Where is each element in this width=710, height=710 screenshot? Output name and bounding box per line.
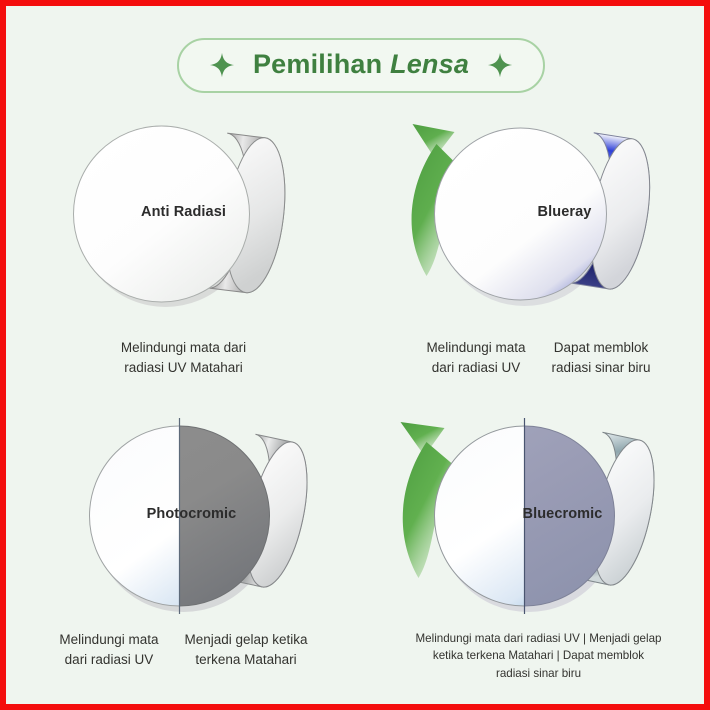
lens-grid: Anti Radiasi Melindungi mata dari radias… (6, 106, 710, 706)
lens-card-anti-radiasi[interactable]: Anti Radiasi Melindungi mata dari radias… (6, 106, 361, 406)
captions-photocromic: Melindungi mata dari radiasi UV Menjadi … (6, 630, 361, 669)
caption-item: Melindungi mata dari radiasi UV (59, 630, 158, 669)
lens-card-blueray[interactable]: Blueray Melindungi mata dari radiasi UV … (361, 106, 710, 406)
page-title: Pemilihan Lensa (253, 49, 469, 80)
lens-illustration-bluecromic: Bluecromic (361, 406, 710, 628)
header: Pemilihan Lensa (6, 38, 710, 93)
poster-canvas: Pemilihan Lensa (0, 0, 710, 710)
caption-item: Melindungi mata dari radiasi UV | Menjad… (416, 630, 662, 682)
captions-bluecromic: Melindungi mata dari radiasi UV | Menjad… (361, 630, 710, 682)
page-title-italic: Lensa (390, 49, 469, 79)
caption-item: Menjadi gelap ketika terkena Matahari (184, 630, 307, 669)
lens-illustration-photocromic: Photocromic (6, 406, 361, 628)
lens-card-bluecromic[interactable]: Bluecromic Melindungi mata dari radiasi … (361, 406, 710, 706)
title-pill: Pemilihan Lensa (177, 38, 545, 93)
sparkle-icon-left (209, 52, 235, 78)
lens-illustration-anti-radiasi: Anti Radiasi (6, 106, 361, 328)
page-title-main: Pemilihan (253, 49, 390, 79)
lens-card-photocromic[interactable]: Photocromic Melindungi mata dari radiasi… (6, 406, 361, 706)
lens-illustration-blueray: Blueray (361, 106, 710, 328)
caption-item: Melindungi mata dari radiasi UV (426, 338, 525, 377)
caption-item: Dapat memblok radiasi sinar biru (552, 338, 651, 377)
captions-anti-radiasi: Melindungi mata dari radiasi UV Matahari (6, 338, 361, 377)
sparkle-icon-right (487, 52, 513, 78)
captions-blueray: Melindungi mata dari radiasi UV Dapat me… (361, 338, 710, 377)
caption-item: Melindungi mata dari radiasi UV Matahari (121, 338, 246, 377)
